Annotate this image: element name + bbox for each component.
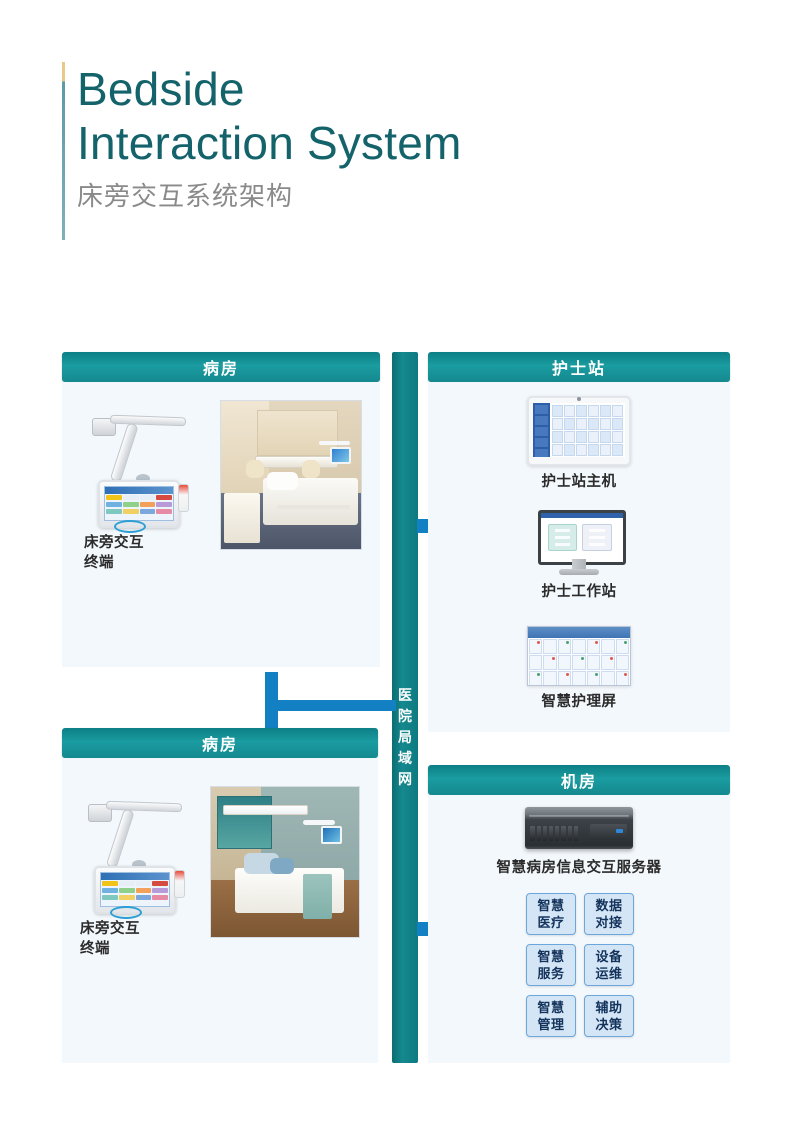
bedside-terminal-group-top: 床旁交互 终端 — [84, 412, 204, 573]
rack-server-icon — [525, 807, 633, 849]
arm-upper-segment — [110, 415, 186, 427]
monitor-card-right — [582, 524, 612, 551]
lan-char-2: 局 — [392, 727, 418, 748]
device-smart-nursing-board: 智慧护理屏 — [499, 626, 659, 712]
photo-bed-throw — [303, 874, 333, 919]
ward-room-photo-top — [220, 400, 362, 550]
panel-body-nurse-station: 护士站主机 护士工作站 — [428, 382, 730, 732]
bedside-terminal-group-bottom: 床旁交互 终端 — [80, 798, 200, 959]
tile-line1: 数据 — [595, 897, 622, 914]
board-row — [528, 671, 630, 686]
display-camera — [577, 397, 581, 401]
board-row — [528, 639, 630, 654]
nurse-station-host-display-icon — [527, 396, 631, 466]
ward-room-photo-bottom — [210, 786, 360, 938]
terminal-screen-row — [101, 894, 169, 901]
terminal-label-line2: 终端 — [84, 553, 204, 573]
tile-device-ops[interactable]: 设备 运维 — [584, 944, 634, 986]
tile-line2: 服务 — [537, 965, 564, 982]
device-nurse-workstation: 护士工作站 — [499, 510, 659, 602]
board-header — [528, 627, 630, 638]
desktop-monitor-icon — [538, 510, 620, 576]
page-subtitle: 床旁交互系统架构 — [77, 176, 662, 213]
bedside-terminal-label-bottom: 床旁交互 终端 — [80, 919, 200, 959]
display-sidebar — [533, 403, 550, 457]
page-title-line2: Interaction System — [77, 116, 662, 170]
tile-smart-service[interactable]: 智慧 服务 — [526, 944, 576, 986]
terminal-screen — [100, 872, 170, 907]
tile-line2: 决策 — [595, 1016, 622, 1033]
monitor-screen — [538, 510, 626, 565]
server-top-highlight — [529, 815, 628, 818]
lan-char-3: 域 — [392, 748, 418, 769]
monitor-titlebar — [541, 513, 623, 518]
photo-terminal-arm — [319, 441, 350, 445]
terminal-screen-row — [105, 494, 173, 501]
page-title-block: Bedside Interaction System 床旁交互系统架构 — [62, 62, 662, 213]
panel-body-server-room: 智慧病房信息交互服务器 智慧 医疗 数据 对接 智慧 服务 设备 运维 智慧 管… — [428, 795, 730, 1063]
tile-smart-management[interactable]: 智慧 管理 — [526, 995, 576, 1037]
nurse-workstation-label: 护士工作站 — [499, 582, 659, 602]
terminal-base-ring — [114, 520, 146, 533]
page-title-line1: Bedside — [77, 63, 245, 115]
terminal-label-line1: 床旁交互 — [80, 919, 200, 939]
display-viewport — [533, 403, 625, 457]
tile-line1: 智慧 — [537, 948, 564, 965]
tile-line2: 医疗 — [537, 914, 564, 931]
server-status-led — [616, 829, 624, 833]
photo-overbed-light — [223, 805, 308, 815]
terminal-screen-row — [101, 887, 169, 894]
tile-line1: 智慧 — [537, 897, 564, 914]
panel-header-ward-top: 病房 — [62, 352, 380, 382]
tile-smart-medical[interactable]: 智慧 医疗 — [526, 893, 576, 935]
bedside-terminal-arm-icon — [80, 798, 200, 913]
photo-headboard-panel — [257, 410, 337, 456]
photo-pillow — [267, 472, 298, 490]
panel-header-nurse-station: 护士站 — [428, 352, 730, 382]
terminal-screen-row — [105, 501, 173, 508]
monitor-card-left — [548, 524, 578, 551]
server-drive-bays — [530, 826, 578, 840]
grid-row — [552, 418, 623, 430]
connector-ward-horizontal — [265, 700, 396, 711]
terminal-handset — [178, 484, 189, 512]
photo-bed-siderail — [277, 505, 350, 509]
title-accent-rule — [62, 62, 65, 240]
bedside-terminal-arm-icon — [84, 412, 204, 527]
photo-nightstand — [224, 493, 260, 543]
monitor-stand-neck — [572, 559, 585, 570]
tile-line1: 设备 — [595, 948, 622, 965]
tile-data-integration[interactable]: 数据 对接 — [584, 893, 634, 935]
page-title-english: Bedside Interaction System — [77, 62, 662, 170]
photo-lamp-left — [246, 460, 264, 478]
terminal-base-ring — [110, 906, 142, 919]
lan-char-4: 网 — [392, 769, 418, 790]
terminal-label-line1: 床旁交互 — [84, 533, 204, 553]
terminal-screen — [104, 486, 174, 521]
photo-art-panel — [217, 796, 272, 849]
smart-nursing-board-label: 智慧护理屏 — [499, 692, 659, 712]
grid-row — [552, 405, 623, 417]
board-row — [528, 655, 630, 670]
terminal-handset — [174, 870, 185, 898]
grid-row — [552, 431, 623, 443]
photo-terminal-tablet — [330, 447, 351, 464]
tile-line2: 管理 — [537, 1016, 564, 1033]
photo-accent-pillow — [270, 858, 294, 875]
terminal-screen-header — [105, 487, 173, 494]
tile-line2: 对接 — [595, 914, 622, 931]
tile-decision-support[interactable]: 辅助 决策 — [584, 995, 634, 1037]
terminal-screen-row — [101, 880, 169, 887]
terminal-screen-header — [101, 873, 169, 880]
display-bed-grid — [550, 403, 625, 457]
tile-line1: 辅助 — [595, 999, 622, 1016]
panel-body-ward-top: 床旁交互 终端 — [62, 382, 380, 667]
terminal-screen-row — [105, 508, 173, 515]
photo-lamp-right — [302, 460, 320, 478]
tile-line2: 运维 — [595, 965, 622, 982]
smart-nursing-board-icon — [527, 626, 631, 686]
panel-body-ward-bottom: 床旁交互 终端 — [62, 758, 378, 1063]
panel-header-ward-bottom: 病房 — [62, 728, 378, 758]
terminal-label-line2: 终端 — [80, 939, 200, 959]
server-capability-tiles: 智慧 医疗 数据 对接 智慧 服务 设备 运维 智慧 管理 辅助 决策 — [526, 893, 632, 1037]
architecture-diagram: 医 院 局 域 网 病房 — [0, 330, 800, 1090]
bedside-terminal-label-top: 床旁交互 终端 — [84, 533, 204, 573]
tile-line1: 智慧 — [537, 999, 564, 1016]
device-nurse-station-host: 护士站主机 — [499, 396, 659, 492]
photo-terminal-tablet — [321, 826, 343, 844]
arm-upper-segment — [106, 801, 182, 813]
grid-row — [552, 444, 623, 456]
interaction-server-label: 智慧病房信息交互服务器 — [428, 858, 730, 878]
device-interaction-server: 智慧病房信息交互服务器 — [428, 807, 730, 878]
panel-header-server-room: 机房 — [428, 765, 730, 795]
nurse-station-host-label: 护士站主机 — [499, 472, 659, 492]
monitor-stand-base — [559, 569, 598, 574]
photo-bed-head-rail — [255, 456, 338, 468]
photo-terminal-arm — [303, 820, 336, 825]
